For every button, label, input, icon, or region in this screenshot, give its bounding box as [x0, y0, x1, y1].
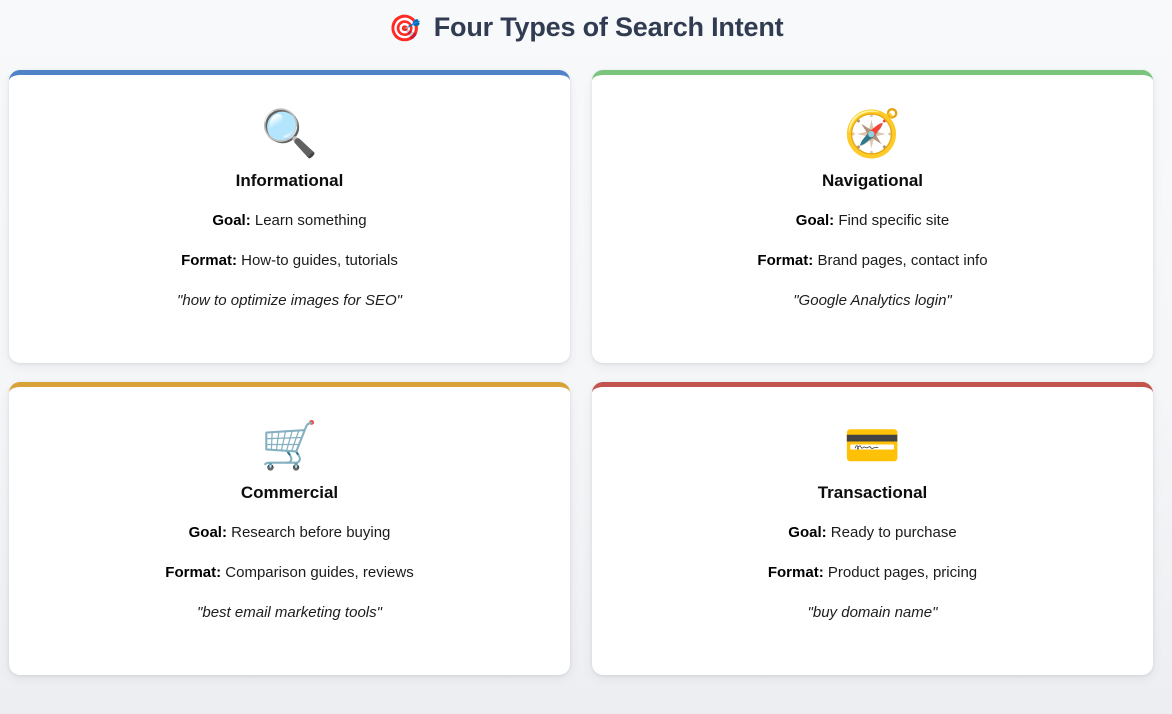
- card-example-query: "Google Analytics login": [793, 292, 952, 311]
- card-format-row: Format: How-to guides, tutorials: [181, 252, 398, 271]
- format-value: Product pages, pricing: [828, 564, 977, 581]
- magnifying-glass-icon: 🔍: [261, 105, 318, 161]
- intent-card-transactional[interactable]: 💳 Transactional Goal: Ready to purchase …: [592, 382, 1153, 675]
- card-goal-row: Goal: Find specific site: [796, 212, 949, 231]
- search-intent-infographic: 🎯 Four Types of Search Intent 🔍 Informat…: [0, 0, 1172, 714]
- goal-value: Learn something: [255, 212, 367, 229]
- card-title: Informational: [236, 171, 344, 191]
- format-label: Format:: [181, 252, 237, 269]
- card-format-row: Format: Product pages, pricing: [768, 564, 977, 583]
- card-format-row: Format: Comparison guides, reviews: [165, 564, 413, 583]
- page-title-text: Four Types of Search Intent: [434, 14, 784, 41]
- card-goal-row: Goal: Research before buying: [189, 524, 391, 543]
- format-label: Format:: [768, 564, 824, 581]
- goal-value: Find specific site: [838, 212, 949, 229]
- format-value: Comparison guides, reviews: [225, 564, 413, 581]
- credit-card-icon: 💳: [844, 417, 901, 473]
- goal-value: Ready to purchase: [831, 524, 957, 541]
- card-example-query: "best email marketing tools": [197, 604, 382, 623]
- goal-label: Goal:: [796, 212, 834, 229]
- format-label: Format:: [757, 252, 813, 269]
- format-value: How-to guides, tutorials: [241, 252, 398, 269]
- goal-value: Research before buying: [231, 524, 390, 541]
- compass-icon: 🧭: [844, 105, 901, 161]
- card-title: Commercial: [241, 483, 338, 503]
- card-example-query: "buy domain name": [808, 604, 938, 623]
- card-example-query: "how to optimize images for SEO": [177, 292, 402, 311]
- page-title: 🎯 Four Types of Search Intent: [389, 14, 784, 41]
- format-value: Brand pages, contact info: [817, 252, 987, 269]
- format-label: Format:: [165, 564, 221, 581]
- card-goal-row: Goal: Ready to purchase: [788, 524, 956, 543]
- goal-label: Goal:: [212, 212, 250, 229]
- card-title: Navigational: [822, 171, 923, 191]
- goal-label: Goal:: [788, 524, 826, 541]
- shopping-cart-icon: 🛒: [261, 417, 318, 473]
- intent-card-grid: 🔍 Informational Goal: Learn something Fo…: [0, 55, 1172, 714]
- intent-card-commercial[interactable]: 🛒 Commercial Goal: Research before buyin…: [9, 382, 570, 675]
- card-format-row: Format: Brand pages, contact info: [757, 252, 987, 271]
- goal-label: Goal:: [189, 524, 227, 541]
- page-header: 🎯 Four Types of Search Intent: [0, 0, 1172, 55]
- card-title: Transactional: [818, 483, 928, 503]
- intent-card-navigational[interactable]: 🧭 Navigational Goal: Find specific site …: [592, 70, 1153, 363]
- intent-card-informational[interactable]: 🔍 Informational Goal: Learn something Fo…: [9, 70, 570, 363]
- card-goal-row: Goal: Learn something: [212, 212, 366, 231]
- dart-target-icon: 🎯: [389, 15, 421, 41]
